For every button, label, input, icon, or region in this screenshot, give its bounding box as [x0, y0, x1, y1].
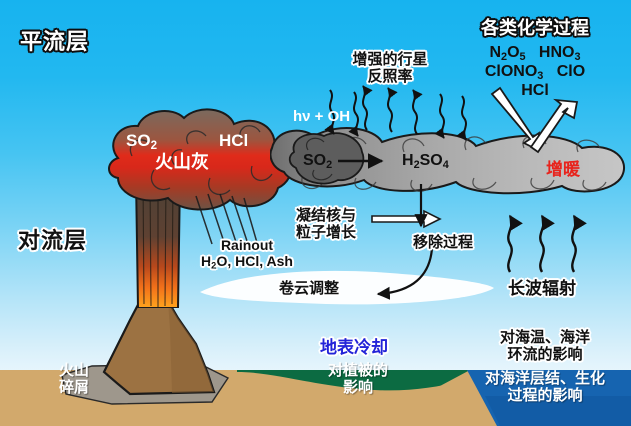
plume-so2-label: SO2: [126, 131, 157, 153]
volcanic-debris-label: 火山 碎屑: [59, 363, 89, 397]
troposphere-label: 对流层: [18, 229, 87, 254]
ocean-temperature-impact-label: 对海温、海洋 环流的影响: [500, 330, 590, 364]
longwave-radiation-label: 长波辐射: [508, 279, 576, 298]
cirrus-adjustment-label: 卷云调整: [279, 281, 339, 298]
albedo-wavy-arrows: [330, 86, 466, 140]
removal-process-label: 移除过程: [413, 235, 473, 252]
species-row-1: N2O5 HNO3: [485, 44, 585, 63]
species-row-3: HCl: [485, 82, 585, 100]
volcano-climate-diagram: 平流层 对流层 SO2 HCl 火山灰 hν + OH SO2 H2SO4 增暖…: [0, 0, 631, 426]
surface-cooling-label: 地表冷却: [320, 338, 388, 357]
photolysis-label: hν + OH: [293, 109, 350, 126]
cirrus-feedback-arrow: [378, 248, 432, 294]
vegetation-impact-label: 对植被的 影响: [328, 363, 388, 397]
plume-hcl-label: HCl: [219, 131, 248, 150]
ocean-biogeochemistry-impact-label: 对海洋层结、生化 过程的影响: [485, 371, 605, 405]
longwave-wavy-arrows: [508, 216, 575, 272]
albedo-label: 增强的行星 反照率: [352, 52, 427, 86]
chemical-species-list: N2O5 HNO3 ClONO3 ClO HCl: [485, 44, 585, 100]
stratosphere-label: 平流层: [20, 30, 89, 55]
so2-gas-label: SO2: [303, 152, 332, 171]
nuclei-growth-arrow: [372, 211, 440, 227]
rainout-label: Rainout H2O, HCl, Ash: [201, 238, 293, 272]
plume-ash-label: 火山灰: [155, 152, 209, 172]
h2so4-label: H2SO4: [402, 152, 449, 171]
species-row-2: ClONO3 ClO: [485, 63, 585, 82]
chemical-processes-heading: 各类化学过程: [481, 18, 589, 38]
warming-label: 增暖: [546, 160, 580, 179]
condensation-nuclei-label: 凝结核与 粒子增长: [296, 208, 356, 242]
